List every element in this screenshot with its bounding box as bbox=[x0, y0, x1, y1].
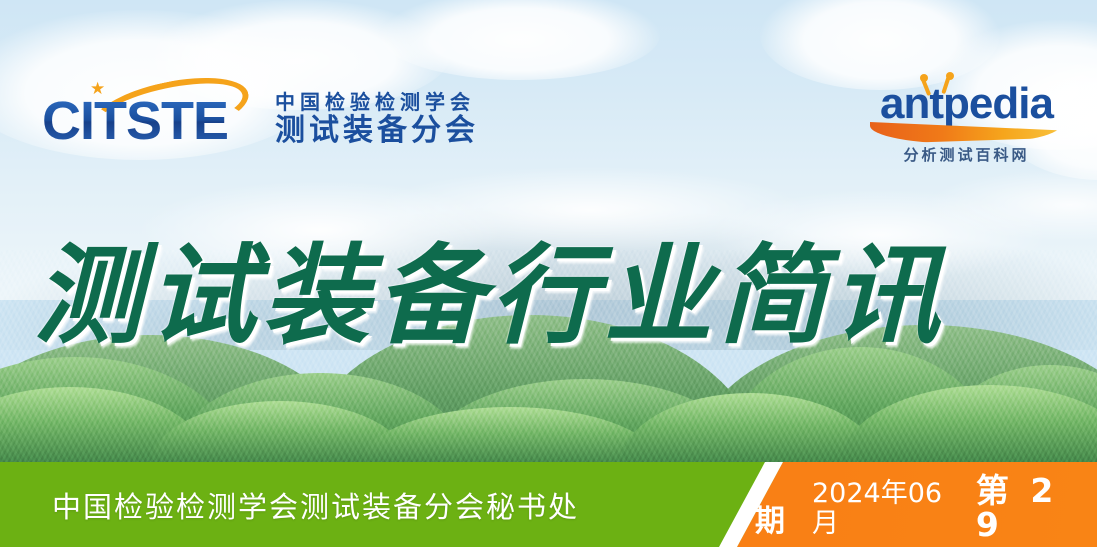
newsletter-banner: ★ CITSTE 中国检验检测学会 测试装备分会 antpedia 分析测试百科… bbox=[0, 0, 1097, 547]
page-title: 测试装备行业简讯 bbox=[34, 238, 1064, 356]
footer-date: 2024年06月 bbox=[812, 479, 962, 539]
antpedia-wordmark-wrap: antpedia bbox=[864, 78, 1069, 136]
citste-wordmark-wrap: ★ CITSTE bbox=[42, 78, 267, 150]
citste-wordmark: CITSTE bbox=[42, 94, 228, 148]
footer-issue-line: 2024年06月 第 2 9 bbox=[812, 474, 1097, 542]
citste-branch-line: 测试装备分会 bbox=[275, 114, 479, 148]
footer-issue-suffix: 期 bbox=[755, 506, 785, 538]
citste-logo[interactable]: ★ CITSTE 中国检验检测学会 测试装备分会 bbox=[42, 78, 479, 150]
footer-issue-number: 第 2 9 bbox=[976, 474, 1097, 542]
antpedia-subtitle: 分析测试百科网 bbox=[864, 144, 1069, 165]
citste-org-line: 中国检验检测学会 bbox=[275, 90, 479, 114]
citste-chinese-name: 中国检验检测学会 测试装备分会 bbox=[275, 90, 479, 148]
antpedia-logo[interactable]: antpedia 分析测试百科网 bbox=[864, 78, 1069, 165]
footer-organization: 中国检验检测学会测试装备分会秘书处 bbox=[52, 462, 579, 547]
cloud-icon bbox=[760, 0, 1000, 90]
ant-antenna-icon bbox=[922, 74, 956, 96]
footer-bar: 中国检验检测学会测试装备分会秘书处 期 2024年06月 第 2 9 bbox=[0, 462, 1097, 547]
cloud-icon bbox=[380, 0, 660, 80]
antpedia-wordmark: antpedia bbox=[864, 78, 1069, 130]
